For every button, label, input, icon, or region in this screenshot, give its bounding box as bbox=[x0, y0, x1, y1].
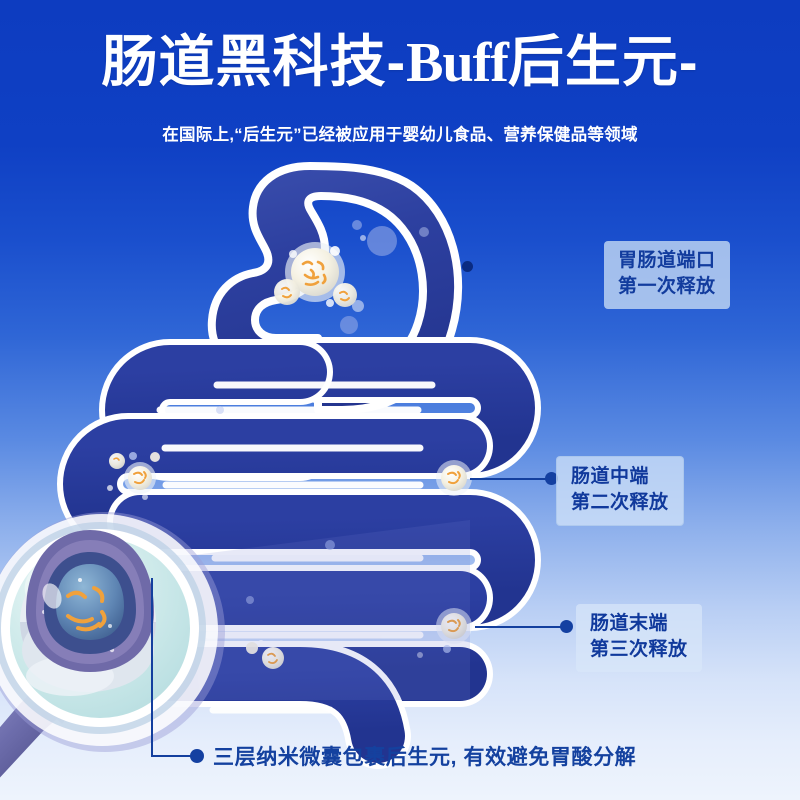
callout-line-1: 胃肠道端口 bbox=[618, 248, 716, 274]
callout-line-2: 第一次释放 bbox=[618, 274, 716, 300]
caption-leader-horizontal bbox=[151, 755, 195, 757]
nano-microcapsule bbox=[436, 608, 472, 653]
callout-line-1: 肠道中端 bbox=[571, 464, 669, 490]
leader-dot-intestine-end bbox=[560, 620, 573, 633]
callout-line-1: 肠道末端 bbox=[590, 611, 688, 637]
header: 肠道黑科技-Buff后生元- 在国际上,“后生元”已经被应用于婴幼儿食品、营养保… bbox=[0, 0, 800, 165]
title-part-cn-1: 肠道黑科技- bbox=[101, 30, 406, 93]
callout-stomach-port: 胃肠道端口 第一次释放 bbox=[604, 241, 730, 309]
leader-dot-stomach bbox=[462, 261, 473, 272]
leader-line-intestine-end bbox=[475, 626, 570, 628]
stomach-organ bbox=[208, 163, 458, 410]
page-subtitle: 在国际上,“后生元”已经被应用于婴幼儿食品、营养保健品等领域 bbox=[0, 121, 800, 145]
nano-microcapsule bbox=[107, 452, 160, 500]
nano-microcapsule bbox=[274, 242, 357, 307]
nano-microcapsule bbox=[246, 640, 284, 669]
callout-intestine-mid: 肠道中端 第二次释放 bbox=[556, 456, 684, 526]
callout-line-2: 第三次释放 bbox=[590, 637, 688, 663]
callout-intestine-end: 肠道末端 第三次释放 bbox=[576, 604, 702, 672]
title-part-latin: Buff bbox=[406, 32, 508, 94]
caption-leader-vertical bbox=[151, 578, 153, 756]
page-title: 肠道黑科技-Buff后生元- bbox=[0, 33, 800, 93]
callout-line-2: 第二次释放 bbox=[571, 490, 669, 516]
title-part-cn-2: 后生元- bbox=[508, 30, 699, 93]
leader-line-intestine-mid bbox=[470, 478, 552, 480]
bottom-caption: 三层纳米微囊包裹后生元, 有效避免胃酸分解 bbox=[213, 741, 636, 771]
probiotic-bacteria bbox=[68, 588, 105, 629]
probiotic-bacteria bbox=[303, 262, 325, 285]
nano-microcapsule bbox=[436, 460, 472, 496]
nano-microcapsule bbox=[20, 530, 156, 696]
caption-leader-dot bbox=[190, 749, 204, 763]
